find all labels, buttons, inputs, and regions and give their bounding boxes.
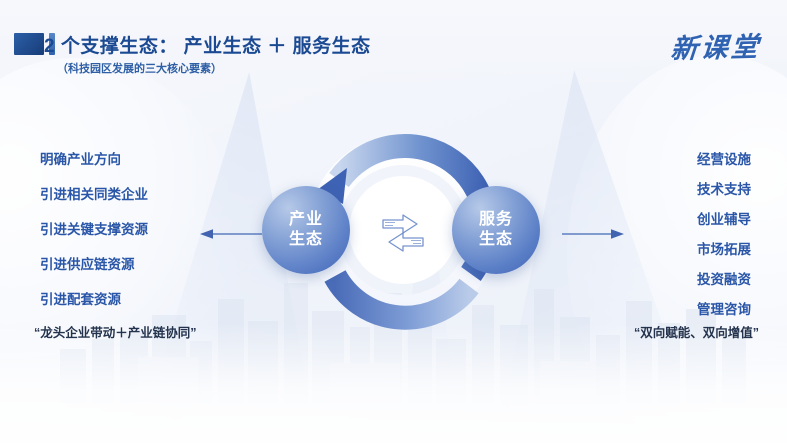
- node-label-line2: 生态: [479, 230, 513, 250]
- left-caption: “龙头企业带动＋产业链协同”: [34, 322, 197, 341]
- node-label-line2: 生态: [289, 230, 323, 250]
- slide-canvas: 2 个支撑生态： 产业生态 ＋ 服务生态 （科技园区发展的三大核心要素） 新课堂…: [0, 0, 787, 443]
- right-caption: “双向赋能、双向增值”: [634, 322, 759, 341]
- background-haze: [0, 323, 787, 443]
- list-item: 市场拓展: [697, 238, 751, 258]
- node-label-line1: 产业: [289, 210, 323, 230]
- page-title: 2 个支撑生态： 产业生态 ＋ 服务生态: [44, 31, 371, 58]
- slide-header: 2 个支撑生态： 产业生态 ＋ 服务生态 （科技园区发展的三大核心要素） 新课堂: [0, 0, 787, 86]
- node-label-line1: 服务: [479, 210, 513, 230]
- brand-logo: 新课堂: [669, 25, 762, 66]
- list-item: 创业辅导: [697, 208, 751, 228]
- list-item: 管理咨询: [697, 298, 751, 318]
- node-industry-ecosystem[interactable]: 产业 生态: [262, 186, 350, 274]
- list-item: 引进相关同类企业: [40, 183, 148, 203]
- list-item: 明确产业方向: [40, 148, 148, 168]
- background-blob-right: [567, 55, 787, 443]
- list-item: 引进配套资源: [40, 288, 148, 308]
- list-item: 技术支持: [697, 178, 751, 198]
- left-feature-list: 明确产业方向 引进相关同类企业 引进关键支撑资源 引进供应链资源 引进配套资源: [40, 148, 148, 323]
- right-feature-list: 经营设施 技术支持 创业辅导 市场拓展 投资融资 管理咨询: [697, 148, 751, 328]
- list-item: 引进关键支撑资源: [40, 218, 148, 238]
- connector-arrow-right: [562, 229, 624, 239]
- list-item: 经营设施: [697, 148, 751, 168]
- list-item: 投资融资: [697, 268, 751, 288]
- square-bullet-icon: [14, 33, 44, 55]
- node-service-ecosystem[interactable]: 服务 生态: [452, 186, 540, 274]
- list-item: 引进供应链资源: [40, 253, 148, 273]
- page-subtitle: （科技园区发展的三大核心要素）: [57, 60, 222, 76]
